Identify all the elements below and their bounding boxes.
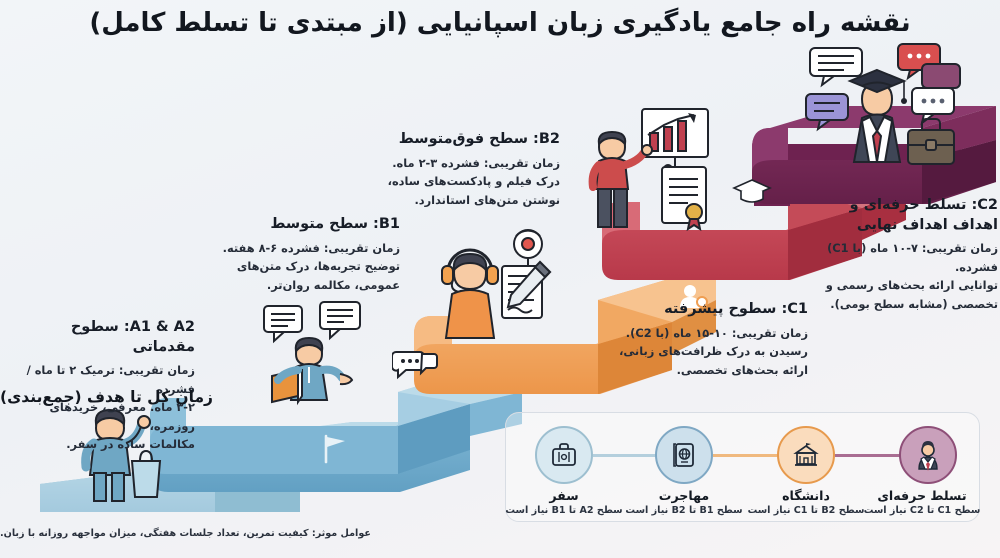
level-body-c2: زمان تقریبی: ۷-۱۰ ماه (با C1) فشرده. توا… bbox=[808, 239, 998, 313]
infographic-canvas: نقشه راه جامع یادگیری زبان اسپانیایی (از… bbox=[0, 0, 1000, 558]
chat-bubble-icon bbox=[392, 348, 438, 386]
summary-footnote: عوامل موثر: کیفیت تمرین، تعداد جلسات هفت… bbox=[0, 528, 985, 539]
level-body-a1a2: زمان تقریبی: ترمیک ۲ تا ماه / فشرده ۳-۲ … bbox=[10, 361, 195, 453]
level-block-b1: B1: سطح متوسط زمان تقریبی: فشرده ۶-۸ هفت… bbox=[220, 215, 400, 294]
passport-icon bbox=[669, 440, 699, 470]
summary-label-migration: مهاجرت سطح B1 تا B2 نیاز است bbox=[625, 488, 743, 516]
university-icon bbox=[791, 440, 821, 470]
level-block-c1: C1: سطوح پیشرفته زمان تقریبی: ۱۰-۱۵ ماه … bbox=[618, 300, 808, 379]
summary-node-migration[interactable] bbox=[655, 426, 713, 484]
graduation-cap-icon bbox=[732, 176, 772, 210]
summary-label-university: دانشگاه سطح B2 تا C1 نیاز است bbox=[747, 488, 865, 516]
headset-learner-icon bbox=[428, 222, 558, 351]
summary-node-professional[interactable] bbox=[899, 426, 957, 484]
summary-label-travel: سفر سطح A2 تا B1 نیاز است bbox=[505, 488, 623, 516]
summary-chain: سفر سطح A2 تا B1 نیاز است مهاجرت سطح B1 … bbox=[505, 412, 980, 522]
level-body-b1: زمان تقریبی: فشرده ۶-۸ هفته. توضیح تجربه… bbox=[220, 239, 400, 294]
presenter-character-icon bbox=[588, 105, 728, 244]
level-heading-b1: B1: سطح متوسط bbox=[220, 215, 400, 235]
graduate-professional-icon bbox=[800, 42, 985, 174]
level-block-c2: C2: تسلط حرفه‌ای و اهداف اهداف نهایی زما… bbox=[808, 196, 998, 313]
level-body-b2: زمان تقریبی: فشرده ۳-۲ ماه. درک فیلم و پ… bbox=[368, 154, 560, 209]
level-body-c1: زمان تقریبی: ۱۰-۱۵ ماه (با C2). رسیدن به… bbox=[618, 324, 808, 379]
level-heading-a1a2: A1 & A2: سطوح مقدماتی bbox=[10, 318, 195, 357]
summary-label-professional: تسلط حرفه‌ای سطح C1 تا C2 نیاز است bbox=[863, 488, 981, 516]
summary-title: زمان کل تا هدف (جمع‌بندی) bbox=[0, 388, 982, 406]
level-heading-b2: B2: سطح فوق‌متوسط bbox=[368, 130, 560, 150]
level-heading-c1: C1: سطوح پیشرفته bbox=[618, 300, 808, 320]
businessman-icon bbox=[911, 438, 945, 472]
summary-node-university[interactable] bbox=[777, 426, 835, 484]
level-block-a1a2: A1 & A2: سطوح مقدماتی زمان تقریبی: ترمیک… bbox=[10, 318, 195, 453]
flag-icon bbox=[318, 432, 352, 468]
level-block-b2: B2: سطح فوق‌متوسط زمان تقریبی: فشرده ۳-۲… bbox=[368, 130, 560, 209]
suitcase-icon bbox=[549, 440, 579, 470]
level-heading-c2: C2: تسلط حرفه‌ای و اهداف اهداف نهایی bbox=[808, 196, 998, 235]
summary-node-travel[interactable] bbox=[535, 426, 593, 484]
